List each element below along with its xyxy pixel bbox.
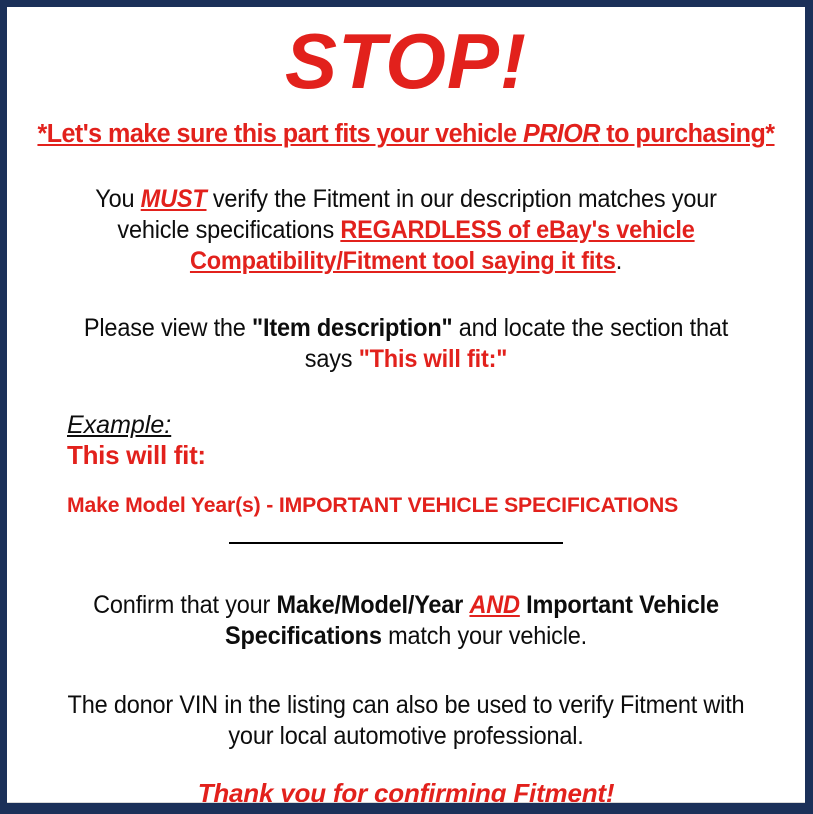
- emphasis-item-description: "Item description": [252, 314, 452, 342]
- must-verify-line: You MUST verify the Fitment in our descr…: [44, 184, 768, 277]
- confirm-paragraph: Confirm that your Make/Model/Year AND Im…: [21, 590, 791, 652]
- thank-you-line: Thank you for confirming Fitment!: [21, 778, 791, 808]
- must-text-lead: You: [95, 185, 140, 213]
- emphasis-make-model-year: Make/Model/Year: [277, 591, 464, 619]
- vin-paragraph: The donor VIN in the listing can also be…: [21, 690, 791, 752]
- vin-line: The donor VIN in the listing can also be…: [44, 690, 768, 752]
- must-verify-paragraph: You MUST verify the Fitment in our descr…: [21, 184, 791, 277]
- emphasis-must: MUST: [141, 185, 207, 213]
- view-description-paragraph: Please view the "Item description" and l…: [21, 313, 791, 375]
- confirm-text-lead: Confirm that your: [93, 591, 276, 619]
- emphasis-and: AND: [469, 591, 519, 619]
- subtitle-text-tail: to purchasing*: [600, 120, 775, 148]
- example-label: Example:: [67, 411, 171, 439]
- fitment-notice-card: STOP! *Let's make sure this part fits yo…: [0, 0, 813, 814]
- subtitle-banner: *Let's make sure this part fits your veh…: [27, 119, 785, 149]
- example-fit-header: This will fit:: [67, 440, 791, 470]
- example-label-row: Example:: [67, 411, 791, 439]
- stop-headline: STOP!: [21, 7, 791, 101]
- example-block: Example: This will fit: Make Model Year(…: [21, 411, 791, 518]
- subtitle-emphasis-prior: PRIOR: [523, 120, 600, 148]
- divider-wrapper: [21, 542, 791, 556]
- emphasis-this-will-fit: "This will fit:": [359, 345, 508, 373]
- view-description-line: Please view the "Item description" and l…: [44, 313, 768, 375]
- horizontal-divider: [229, 542, 563, 544]
- example-spec-line: Make Model Year(s) - IMPORTANT VEHICLE S…: [67, 492, 780, 518]
- bottom-hairline: [7, 802, 805, 803]
- must-text-period: .: [616, 247, 622, 275]
- confirm-text-tail: match your vehicle.: [382, 622, 587, 650]
- view-text-lead: Please view the: [84, 314, 252, 342]
- notice-content: STOP! *Let's make sure this part fits yo…: [7, 7, 805, 803]
- confirm-line: Confirm that your Make/Model/Year AND Im…: [44, 590, 768, 652]
- subtitle-text-lead: *Let's make sure this part fits your veh…: [37, 120, 523, 148]
